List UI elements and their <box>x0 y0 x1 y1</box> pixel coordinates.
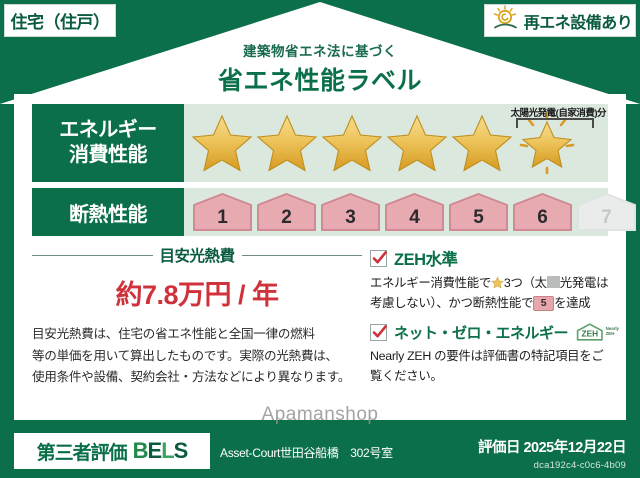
net-zero-title: ネット・ゼロ・エネルギー <box>394 322 568 343</box>
bels-en-label: BELS <box>133 438 188 464</box>
evaluation-date: 評価日 2025年12月22日 <box>478 436 626 457</box>
star-filled-5 <box>450 112 514 174</box>
star-filled-1 <box>190 112 254 174</box>
cost-note-line3: 使用条件や設備、契約会社・方法などにより異なります。 <box>32 367 362 389</box>
bels-letter-l: L <box>161 438 173 463</box>
insulation-scale-area: 1 2 3 4 5 <box>184 188 608 236</box>
bels-letter-b: B <box>133 438 148 463</box>
energy-label-root: 建築物省エネ法に基づく 省エネ性能ラベル 住宅（住戸） 再エネ設備あり <box>0 0 640 478</box>
zeh-logo-sub: Nearly ZEH <box>606 327 619 337</box>
check-icon <box>370 324 387 341</box>
insulation-performance-key: 断熱性能 <box>32 188 184 236</box>
footer-bar: 第三者評価 BELS Asset-Court世田谷船橋 302号室 評価日 20… <box>0 424 640 478</box>
cost-note-line2: 等の単価を用いて算出したものです。実際の光熱費は、 <box>32 346 362 368</box>
star-filled-2 <box>255 112 319 174</box>
watermark: Apamanshop <box>0 404 640 426</box>
renewable-equipment-label: 再エネ設備あり <box>524 9 633 33</box>
zeh-logo-icon: ZEH Nearly ZEH <box>575 321 619 343</box>
insulation-level-5-label: 5 <box>473 207 484 229</box>
zeh-standard-body: エネルギー消費性能で3つ（太光発電は考慮しない）、かつ断熱性能で5を達成 <box>370 273 620 313</box>
sun-icon <box>492 5 520 36</box>
net-zero-body-line1: Nearly ZEH の要件は評価書の特記項目をご <box>370 346 620 366</box>
redacted-block <box>547 276 560 288</box>
star-filled-4 <box>385 112 449 174</box>
insulation-scale: 1 2 3 4 5 <box>192 188 637 236</box>
house-type-label: 住宅（住戸） <box>11 8 110 33</box>
insulation-level-4-label: 4 <box>409 207 420 229</box>
insulation-level-7-label: 7 <box>601 207 612 229</box>
solar-bracket <box>516 118 594 128</box>
net-zero-body: Nearly ZEH の要件は評価書の特記項目をご 覧ください。 <box>370 346 620 386</box>
label-card: エネルギー 消費性能 <box>14 94 626 420</box>
zeh-body-b: 3つ（太 <box>504 276 547 290</box>
energy-performance-key: エネルギー 消費性能 <box>32 104 184 182</box>
zeh-logo-sub2: ZEH <box>606 331 615 336</box>
cost-note: 目安光熱費は、住宅の省エネ性能と全国一律の燃料 等の単価を用いて算出したものです… <box>32 324 362 389</box>
cost-heading-row: 目安光熱費 <box>32 244 362 266</box>
zeh-standard-title: ZEH水準 <box>394 246 458 270</box>
insulation-level-3-label: 3 <box>345 207 356 229</box>
insulation-level-6: 6 <box>512 192 573 232</box>
document-id: dca192c4-c0c6-4b09 <box>478 460 626 471</box>
net-zero-body-line2: 覧ください。 <box>370 366 620 386</box>
bels-letter-s: S <box>174 438 188 463</box>
zeh-body-e: を達成 <box>554 296 590 310</box>
zeh-body-c: 光発電 <box>560 276 596 290</box>
inline-insulation-badge: 5 <box>533 296 554 311</box>
inline-star-icon <box>491 276 504 289</box>
cost-amount: 約7.8万円 / 年 <box>32 273 362 312</box>
insulation-level-6-label: 6 <box>537 207 548 229</box>
evaluation-date-block: 評価日 2025年12月22日 dca192c4-c0c6-4b09 <box>478 436 626 471</box>
bels-jp-label: 第三者評価 <box>37 438 127 465</box>
energy-key-line2: 消費性能 <box>69 143 147 168</box>
insulation-level-3: 3 <box>320 192 381 232</box>
insulation-level-5: 5 <box>448 192 509 232</box>
insulation-performance-row: 断熱性能 1 2 3 <box>32 188 608 236</box>
net-zero-block: ネット・ゼロ・エネルギー ZEH Nearly ZEH <box>370 321 620 386</box>
svg-text:ZEH: ZEH <box>582 330 599 339</box>
net-zero-head: ネット・ゼロ・エネルギー ZEH Nearly ZEH <box>370 321 620 343</box>
house-type-badge: 住宅（住戸） <box>4 4 116 37</box>
insulation-level-2-label: 2 <box>281 207 292 229</box>
cost-rule-right <box>242 255 363 256</box>
insulation-level-2: 2 <box>256 192 317 232</box>
cost-rule-left <box>32 255 153 256</box>
insulation-level-4: 4 <box>384 192 445 232</box>
bels-logo: 第三者評価 BELS <box>14 433 210 469</box>
zeh-standard-block: ZEH水準 エネルギー消費性能で3つ（太光発電は考慮しない）、かつ断熱性能で5を… <box>370 246 620 313</box>
energy-stars-area: 太陽光発電(自家消費)分 <box>184 104 608 182</box>
cost-note-line1: 目安光熱費は、住宅の省エネ性能と全国一律の燃料 <box>32 324 362 346</box>
cost-section: 目安光熱費 約7.8万円 / 年 目安光熱費は、住宅の省エネ性能と全国一律の燃料… <box>32 242 362 389</box>
bels-letter-e: E <box>148 438 162 463</box>
cost-heading: 目安光熱費 <box>160 244 235 266</box>
zeh-body-a: エネルギー消費性能で <box>370 276 491 290</box>
check-icon <box>370 250 387 267</box>
insulation-level-1: 1 <box>192 192 253 232</box>
energy-performance-row: エネルギー 消費性能 <box>32 104 608 182</box>
insulation-level-7: 7 <box>576 192 637 232</box>
energy-key-line1: エネルギー <box>59 118 157 143</box>
solar-caption: 太陽光発電(自家消費)分 <box>511 105 606 119</box>
zeh-section: ZEH水準 エネルギー消費性能で3つ（太光発電は考慮しない）、かつ断熱性能で5を… <box>370 246 620 394</box>
star-filled-3 <box>320 112 384 174</box>
zeh-standard-head: ZEH水準 <box>370 246 620 270</box>
renewable-equipment-badge: 再エネ設備あり <box>484 4 636 37</box>
property-address: Asset-Court世田谷船橋 302号室 <box>220 444 393 461</box>
lower-section: 目安光熱費 約7.8万円 / 年 目安光熱費は、住宅の省エネ性能と全国一律の燃料… <box>14 242 626 420</box>
insulation-level-1-label: 1 <box>217 207 228 229</box>
